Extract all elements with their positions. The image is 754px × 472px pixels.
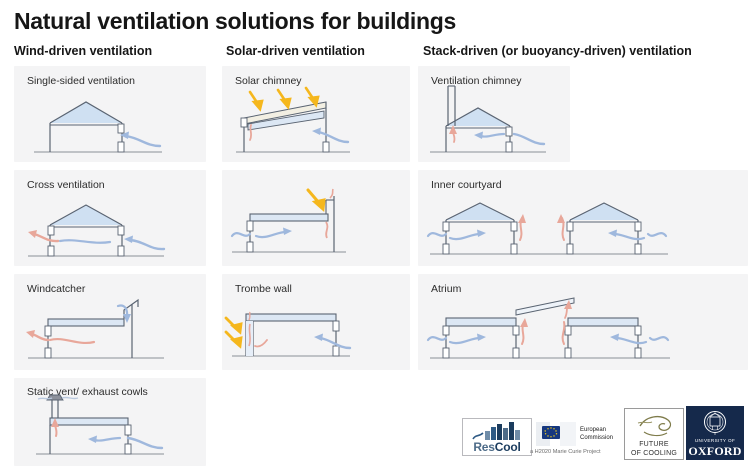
oxford-label-line1: UNIVERSITY OF	[686, 438, 744, 443]
logo-future-of-cooling: FUTURE OF COOLING	[624, 408, 684, 460]
logo-rescool: ResCool	[462, 418, 532, 456]
logo-strip: ResCool	[0, 0, 754, 472]
swirl-icon	[634, 412, 678, 440]
logo-university-of-oxford: UNIVERSITY OF OXFORD	[686, 406, 744, 460]
rescool-res-text: Res	[473, 440, 494, 454]
rescool-cool-text: Cool	[495, 440, 521, 454]
h2020-caption: a H2020 Marie Curie Project	[530, 449, 601, 455]
eu-flag-icon	[536, 422, 576, 446]
oxford-crest-icon	[700, 410, 730, 436]
rescool-wordmark: ResCool	[473, 441, 520, 455]
ec-label-line2: Commission	[580, 435, 613, 443]
foc-label-line2: OF COOLING	[625, 449, 683, 458]
rescool-bars-icon	[465, 421, 531, 441]
eu-stars-icon	[542, 426, 560, 439]
ec-label-line1: European	[580, 427, 606, 435]
logo-european-commission: European Commission a H2020 Marie Curie …	[536, 420, 628, 454]
oxford-label-line2: OXFORD	[686, 444, 744, 459]
slide-root: Natural ventilation solutions for buildi…	[0, 0, 754, 472]
